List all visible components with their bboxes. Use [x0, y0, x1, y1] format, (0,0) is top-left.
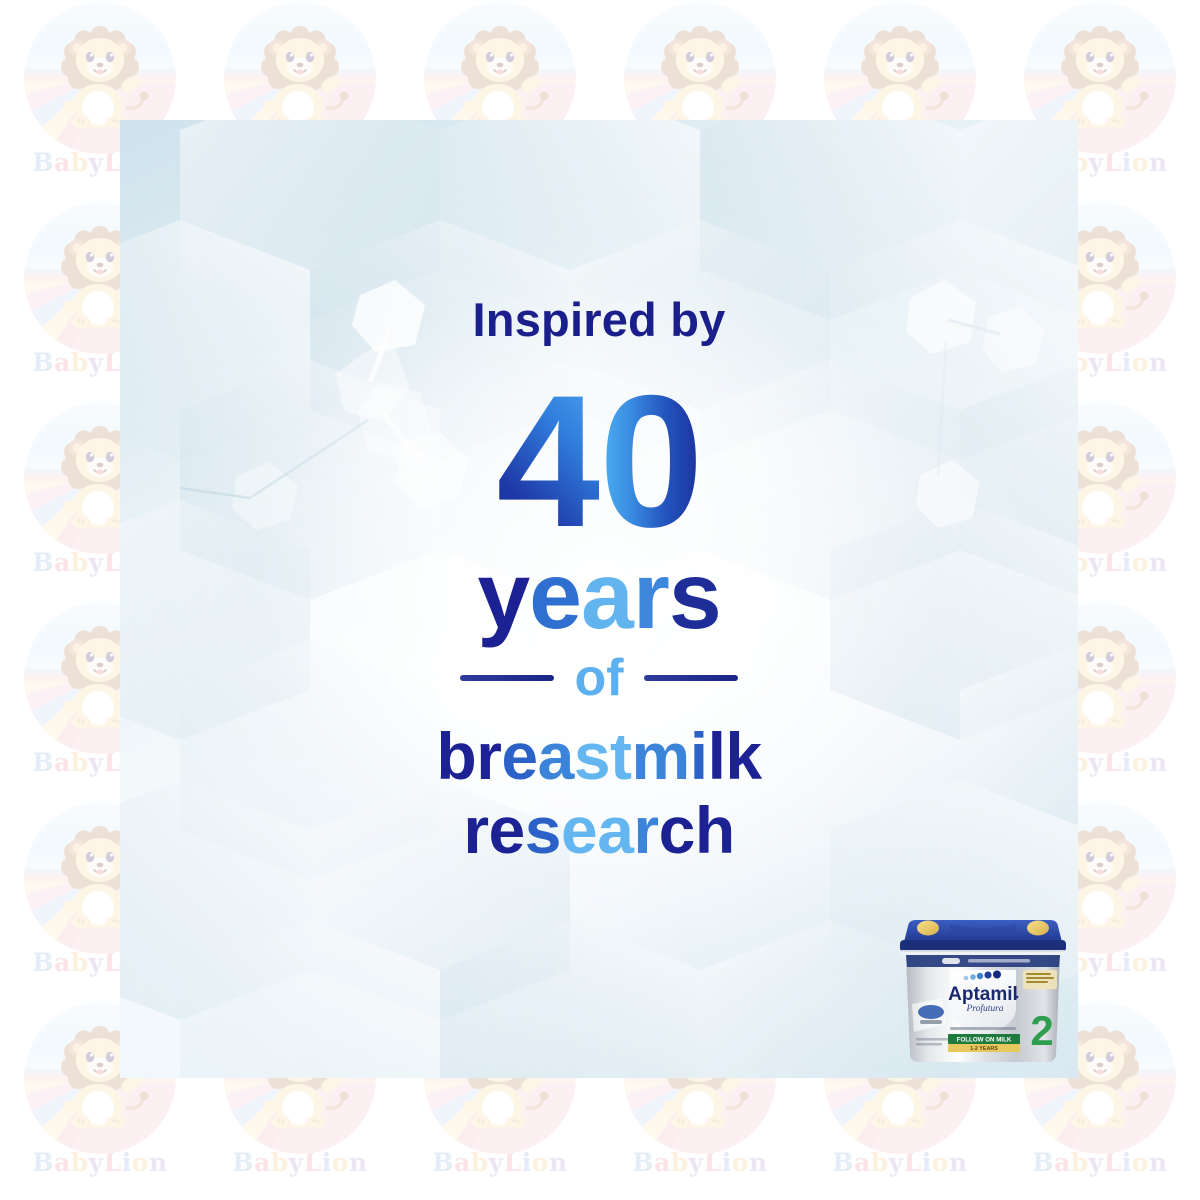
product-promo-card: Inspired by 4 0 y e a r s of b r e a s t… [120, 120, 1078, 1078]
bm-letter-t: t [610, 720, 631, 794]
baby-lion-icon [1041, 22, 1159, 134]
bm-letter-b: b [436, 720, 476, 794]
age-band-text: 1-2 YEARS [970, 1046, 998, 1052]
baby-lion-icon [641, 22, 759, 134]
headline-of-row: of [460, 652, 737, 704]
rule-right [644, 675, 738, 681]
digit-4: 4 [496, 367, 599, 555]
rs-letter-h: h [695, 794, 735, 868]
headline-years: y e a r s [477, 549, 720, 644]
package-lid [900, 920, 1066, 955]
years-letter-s: s [669, 549, 721, 644]
years-letter-e: e [529, 549, 581, 644]
digit-0: 0 [599, 367, 702, 555]
bm-letter-e: e [501, 720, 537, 794]
nutricia-badge-icon [942, 958, 960, 964]
years-letter-r: r [633, 549, 669, 644]
rs-letter-e: e [489, 794, 525, 868]
rule-left [460, 675, 554, 681]
bm-letter-l: l [708, 720, 726, 794]
bm-letter-s: s [574, 720, 610, 794]
sub-brand-text: Profutura [965, 1003, 1003, 1014]
rs-letter-r: r [463, 794, 488, 868]
bm-letter-k: k [725, 720, 761, 794]
baby-lion-icon [841, 22, 959, 134]
baby-lion-icon [41, 22, 159, 134]
headline-breastmilk: b r e a s t m i l k [436, 720, 761, 794]
bm-letter-a: a [538, 720, 574, 794]
package-body: Aptamil Profutura FOLLOW ON MILK 1-2 YEA… [906, 955, 1060, 1062]
rs-letter-a: a [597, 794, 633, 868]
headline-inspired-by: Inspired by [473, 296, 726, 343]
rs-letter-e2: e [561, 794, 597, 868]
bm-letter-i: i [690, 720, 708, 794]
product-package-aptamil-profutura-2[interactable]: Aptamil Profutura FOLLOW ON MILK 1-2 YEA… [890, 912, 1076, 1070]
baby-lion-icon [241, 22, 359, 134]
headline-of: of [574, 652, 623, 704]
years-letter-a: a [581, 549, 633, 644]
bm-letter-m: m [632, 720, 690, 794]
brand-name-text: Aptamil [948, 984, 1018, 1005]
claim-badge [1023, 970, 1057, 989]
stage-number-text: 2 [1030, 1007, 1053, 1054]
headline-research: r e s e a r c h [463, 794, 734, 868]
baby-lion-icon [441, 22, 559, 134]
rs-letter-s: s [525, 794, 561, 868]
follow-on-milk-text: FOLLOW ON MILK [957, 1037, 1012, 1044]
rs-letter-r2: r [633, 794, 658, 868]
bm-letter-r: r [476, 720, 501, 794]
years-letter-y: y [477, 549, 529, 644]
headline-number-40: 4 0 [496, 367, 701, 555]
rs-letter-c: c [659, 794, 695, 868]
